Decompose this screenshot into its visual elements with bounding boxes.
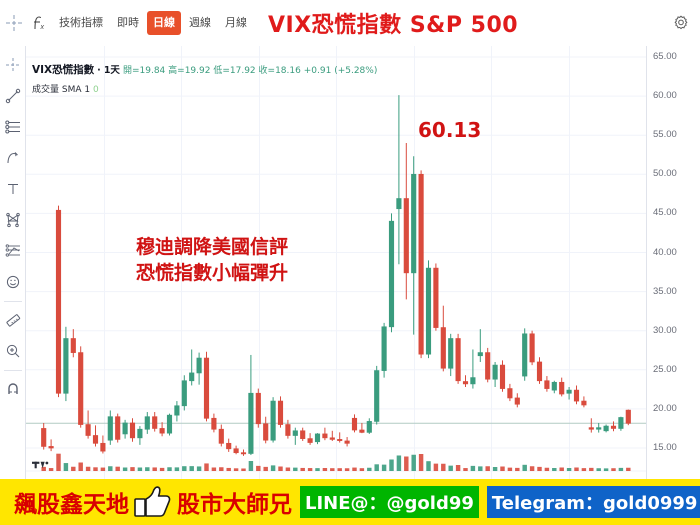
legend-open-label: 開= bbox=[123, 66, 140, 76]
fx-indicator-icon[interactable]: x bbox=[28, 0, 52, 46]
price-axis-tick: 55.00 bbox=[653, 129, 677, 140]
legend-high-value: 19.92 bbox=[185, 66, 211, 76]
xabcd-pattern-icon[interactable] bbox=[2, 205, 24, 235]
legend-interval: 1天 bbox=[104, 65, 120, 76]
toolbar-item-monthly[interactable]: 月線 bbox=[219, 11, 253, 35]
volume-value: 0 bbox=[93, 85, 99, 95]
legend-change-pct: (+5.28%) bbox=[334, 66, 377, 76]
price-axis-tick: 65.00 bbox=[653, 51, 677, 62]
price-axis-tick: 50.00 bbox=[653, 168, 677, 179]
page-title: VIX恐慌指數 S&P 500 bbox=[268, 7, 518, 39]
chart-legend-ohlc: VIX恐慌指數 · 1天 開=19.84 高=19.92 低=17.92 收=1… bbox=[32, 62, 377, 77]
legend-symbol: VIX恐慌指數 bbox=[32, 64, 94, 76]
legend-close-value: 18.16 bbox=[275, 66, 301, 76]
magnet-icon[interactable] bbox=[2, 374, 24, 404]
peak-annotation: 60.13 bbox=[418, 118, 481, 142]
gear-icon[interactable] bbox=[672, 14, 690, 32]
fib-retracement-icon[interactable] bbox=[2, 236, 24, 266]
price-axis-tick: 35.00 bbox=[653, 286, 677, 297]
ruler-icon[interactable] bbox=[2, 305, 24, 335]
trend-line-icon[interactable] bbox=[2, 81, 24, 111]
legend-low-value: 17.92 bbox=[230, 66, 256, 76]
brand-right-text: 股市大師兄 bbox=[177, 485, 292, 519]
brand-left-text: 飆股鑫天地 bbox=[14, 485, 129, 519]
toolbar-item-weekly[interactable]: 週線 bbox=[183, 11, 217, 35]
horizontal-lines-icon[interactable] bbox=[2, 112, 24, 142]
thumbs-up-icon bbox=[133, 485, 173, 519]
price-axis[interactable]: 18.16 65.0060.0055.0050.0045.0040.0035.0… bbox=[646, 46, 700, 479]
line-contact-badge[interactable]: LINE@：@gold99 bbox=[300, 486, 479, 518]
legend-close-label: 收= bbox=[259, 66, 276, 76]
smiley-icon[interactable] bbox=[2, 267, 24, 297]
legend-separator: · bbox=[97, 65, 101, 76]
chart-container[interactable]: VIX恐慌指數 · 1天 開=19.84 高=19.92 低=17.92 收=1… bbox=[26, 46, 700, 479]
price-axis-tick: 40.00 bbox=[653, 247, 677, 258]
news-annotation: 穆迪調降美國信評 恐慌指數小幅彈升 bbox=[136, 234, 288, 286]
price-axis-tick: 20.00 bbox=[653, 403, 677, 414]
price-axis-tick: 45.00 bbox=[653, 207, 677, 218]
tradingview-logo-icon[interactable] bbox=[32, 457, 50, 473]
candlestick-series bbox=[26, 46, 646, 479]
news-annotation-line2: 恐慌指數小幅彈升 bbox=[136, 260, 288, 286]
text-icon[interactable] bbox=[2, 174, 24, 204]
telegram-contact-badge[interactable]: Telegram：gold0999 bbox=[487, 486, 700, 518]
toolbar-item-indicators[interactable]: 技術指標 bbox=[53, 11, 109, 35]
price-axis-tick: 60.00 bbox=[653, 90, 677, 101]
chart-legend-volume: 成交量 SMA 1 0 bbox=[32, 82, 99, 95]
zoom-in-icon[interactable] bbox=[2, 336, 24, 366]
price-axis-tick: 30.00 bbox=[653, 325, 677, 336]
tradingview-chart-app: x 技術指標 即時 日線 週線 月線 VIX恐慌指數 S&P 500 bbox=[0, 0, 700, 525]
divider bbox=[4, 370, 22, 371]
legend-change: +0.91 bbox=[304, 66, 332, 76]
footer-banner: 飆股鑫天地 股市大師兄 LINE@：@gold99 Telegram：gold0… bbox=[0, 479, 700, 525]
legend-high-label: 高= bbox=[168, 66, 185, 76]
drawing-tools-sidebar bbox=[0, 46, 26, 479]
svg-text:x: x bbox=[40, 24, 45, 31]
top-toolbar: x 技術指標 即時 日線 週線 月線 VIX恐慌指數 S&P 500 bbox=[0, 0, 700, 47]
legend-low-label: 低= bbox=[213, 66, 230, 76]
volume-label: 成交量 SMA 1 bbox=[32, 85, 90, 95]
divider bbox=[4, 301, 22, 302]
crosshair-icon[interactable] bbox=[0, 0, 28, 46]
brush-icon[interactable] bbox=[2, 143, 24, 173]
toolbar-item-daily[interactable]: 日線 bbox=[147, 11, 181, 35]
price-plot[interactable]: VIX恐慌指數 · 1天 開=19.84 高=19.92 低=17.92 收=1… bbox=[26, 46, 646, 479]
crosshair-icon[interactable] bbox=[2, 50, 24, 80]
price-axis-tick: 25.00 bbox=[653, 364, 677, 375]
price-axis-tick: 15.00 bbox=[653, 442, 677, 453]
legend-open-value: 19.84 bbox=[140, 66, 166, 76]
toolbar-item-realtime[interactable]: 即時 bbox=[111, 11, 145, 35]
news-annotation-line1: 穆迪調降美國信評 bbox=[136, 234, 288, 260]
